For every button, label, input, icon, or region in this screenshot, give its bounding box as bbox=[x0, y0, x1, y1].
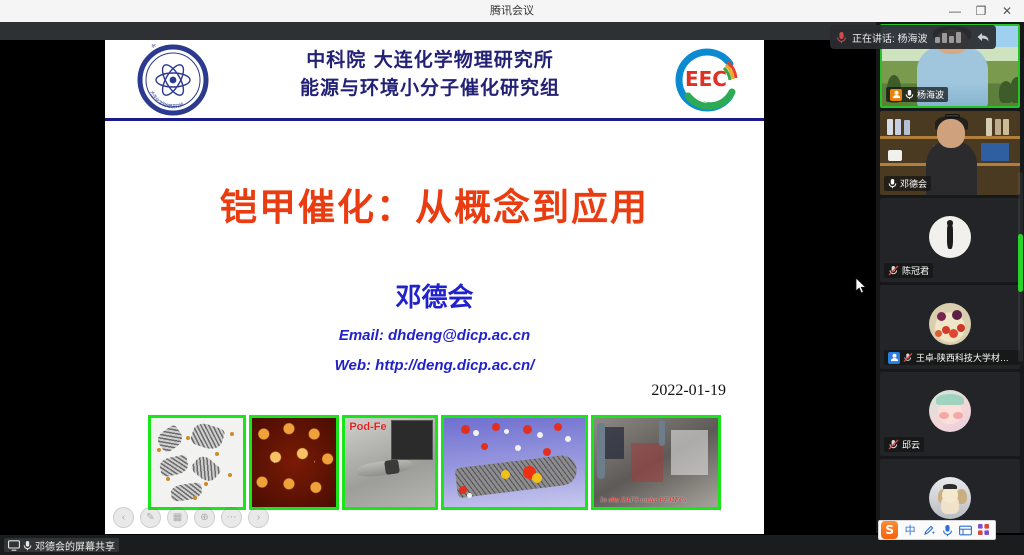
figure-xafs-setup: In situ XAFS under PEMFCs bbox=[591, 415, 721, 510]
slide-header-divider bbox=[105, 118, 764, 121]
status-bar: 邓德会的屏幕共享 bbox=[0, 535, 1024, 555]
slide-date: 2022-01-19 bbox=[651, 382, 726, 400]
slide-view-button[interactable]: ▦ bbox=[167, 507, 188, 528]
slide-header-line1: 中科院 大连化学物理研究所 bbox=[255, 46, 605, 74]
microphone-muted-icon bbox=[888, 178, 897, 189]
participant-tile-4[interactable]: 邱云 bbox=[880, 372, 1020, 456]
participant-name: 邱云 bbox=[902, 438, 920, 451]
figure-stm-lattice bbox=[249, 415, 339, 510]
dicp-seal-logo: 中国科学院 大连化学物理研究所 bbox=[137, 44, 209, 116]
participant-tile-3[interactable]: 王卓-陕西科技大学材料学院 bbox=[880, 285, 1020, 369]
tencent-meeting-window: 腾讯会议 — ❐ ✕ bbox=[0, 0, 1024, 555]
avatar bbox=[929, 303, 971, 345]
language-mode-button[interactable]: 中 bbox=[903, 522, 917, 538]
microphone-muted-icon bbox=[903, 352, 913, 363]
participant-name: 邓德会 bbox=[900, 177, 927, 190]
participant-nameplate: 王卓-陕西科技大学材料学院 bbox=[884, 350, 1020, 365]
reply-arrow-icon[interactable] bbox=[976, 31, 990, 43]
figure-tem-caption: Pod-Fe bbox=[349, 421, 386, 433]
presentation-slide: 中国科学院 大连化学物理研究所 中科院 大连化学物理研究所 能源与环境小分子催化… bbox=[105, 40, 764, 534]
mouse-cursor bbox=[855, 277, 867, 295]
toolbox-icon[interactable] bbox=[977, 522, 991, 538]
host-badge-icon bbox=[890, 89, 902, 101]
microphone-icon bbox=[836, 31, 847, 44]
sogou-ime-toolbar[interactable]: S 中 bbox=[878, 520, 996, 540]
participant-nameplate: 杨海波 bbox=[886, 87, 948, 102]
participant-nameplate: 陈冠君 bbox=[884, 263, 933, 278]
figure-tem-pod-fe: Pod-Fe bbox=[342, 415, 438, 510]
participant-rail[interactable]: 杨海波 bbox=[876, 22, 1024, 533]
zoom-button[interactable]: ⊕ bbox=[194, 507, 215, 528]
slide-header-title: 中科院 大连化学物理研究所 能源与环境小分子催化研究组 bbox=[255, 46, 605, 102]
slide-main-title: 铠甲催化：从概念到应用 bbox=[105, 177, 764, 231]
shared-screen-stage: 中国科学院 大连化学物理研究所 中科院 大连化学物理研究所 能源与环境小分子催化… bbox=[0, 40, 876, 535]
avatar bbox=[929, 477, 971, 519]
close-button[interactable]: ✕ bbox=[994, 0, 1020, 22]
monitor-icon bbox=[8, 540, 20, 551]
microphone-muted-icon bbox=[888, 265, 899, 276]
handwriting-icon[interactable] bbox=[922, 522, 936, 538]
avatar bbox=[929, 390, 971, 432]
avatar bbox=[929, 216, 971, 258]
slide-figure-strip: Pod-Fe bbox=[148, 415, 721, 510]
voice-input-icon[interactable] bbox=[940, 522, 954, 538]
figure-graphene-flakes bbox=[148, 415, 246, 510]
participant-name: 王卓-陕西科技大学材料学院 bbox=[916, 351, 1016, 364]
window-title-bar: 腾讯会议 — ❐ ✕ bbox=[0, 0, 1024, 23]
user-badge-icon bbox=[888, 352, 900, 364]
sound-wave-icon bbox=[935, 32, 961, 43]
screen-share-chip: 邓德会的屏幕共享 bbox=[4, 538, 119, 552]
pen-tool-button[interactable]: ✎ bbox=[140, 507, 161, 528]
participant-name: 陈冠君 bbox=[902, 264, 929, 277]
participant-nameplate: 邱云 bbox=[884, 437, 924, 452]
participant-scrollbar-thumb[interactable] bbox=[1018, 234, 1023, 292]
participant-nameplate: 邓德会 bbox=[884, 176, 931, 191]
participant-tile-2[interactable]: 陈冠君 bbox=[880, 198, 1020, 282]
slide-email: Email: dhdeng@dicp.ac.cn bbox=[105, 327, 764, 344]
window-title: 腾讯会议 bbox=[0, 0, 1024, 22]
screen-share-label: 邓德会的屏幕共享 bbox=[35, 538, 115, 553]
sogou-logo-icon[interactable]: S bbox=[881, 521, 898, 539]
window-controls: — ❐ ✕ bbox=[942, 0, 1020, 22]
more-options-button[interactable]: ⋯ bbox=[221, 507, 242, 528]
slide-author-name: 邓德会 bbox=[105, 277, 764, 314]
slide-header: 中国科学院 大连化学物理研究所 中科院 大连化学物理研究所 能源与环境小分子催化… bbox=[105, 40, 764, 118]
microphone-icon bbox=[23, 540, 32, 551]
eec-logo-text: EEC bbox=[685, 67, 727, 91]
figure-cnt-molecules bbox=[441, 415, 588, 510]
participant-tile-1[interactable]: 邓德会 bbox=[880, 111, 1020, 195]
microphone-muted-icon bbox=[888, 439, 899, 450]
participant-name: 杨海波 bbox=[917, 88, 944, 101]
soft-keyboard-icon[interactable] bbox=[959, 522, 973, 538]
microphone-icon bbox=[905, 89, 914, 100]
next-slide-button[interactable]: › bbox=[248, 507, 269, 528]
figure-xafs-caption: In situ XAFS under PEMFCs bbox=[600, 496, 686, 504]
slide-website: Web: http://deng.dicp.ac.cn/ bbox=[105, 357, 764, 374]
speaking-indicator: 正在讲话: 杨海波 bbox=[830, 25, 996, 49]
ppt-control-cluster: ‹ ✎ ▦ ⊕ ⋯ › bbox=[113, 507, 269, 528]
minimize-button[interactable]: — bbox=[942, 0, 968, 22]
previous-slide-button[interactable]: ‹ bbox=[113, 507, 134, 528]
eec-logo: EEC bbox=[670, 44, 742, 116]
maximize-button[interactable]: ❐ bbox=[968, 0, 994, 22]
slide-header-line2: 能源与环境小分子催化研究组 bbox=[255, 74, 605, 102]
speaking-label: 正在讲话: 杨海波 bbox=[852, 30, 928, 45]
